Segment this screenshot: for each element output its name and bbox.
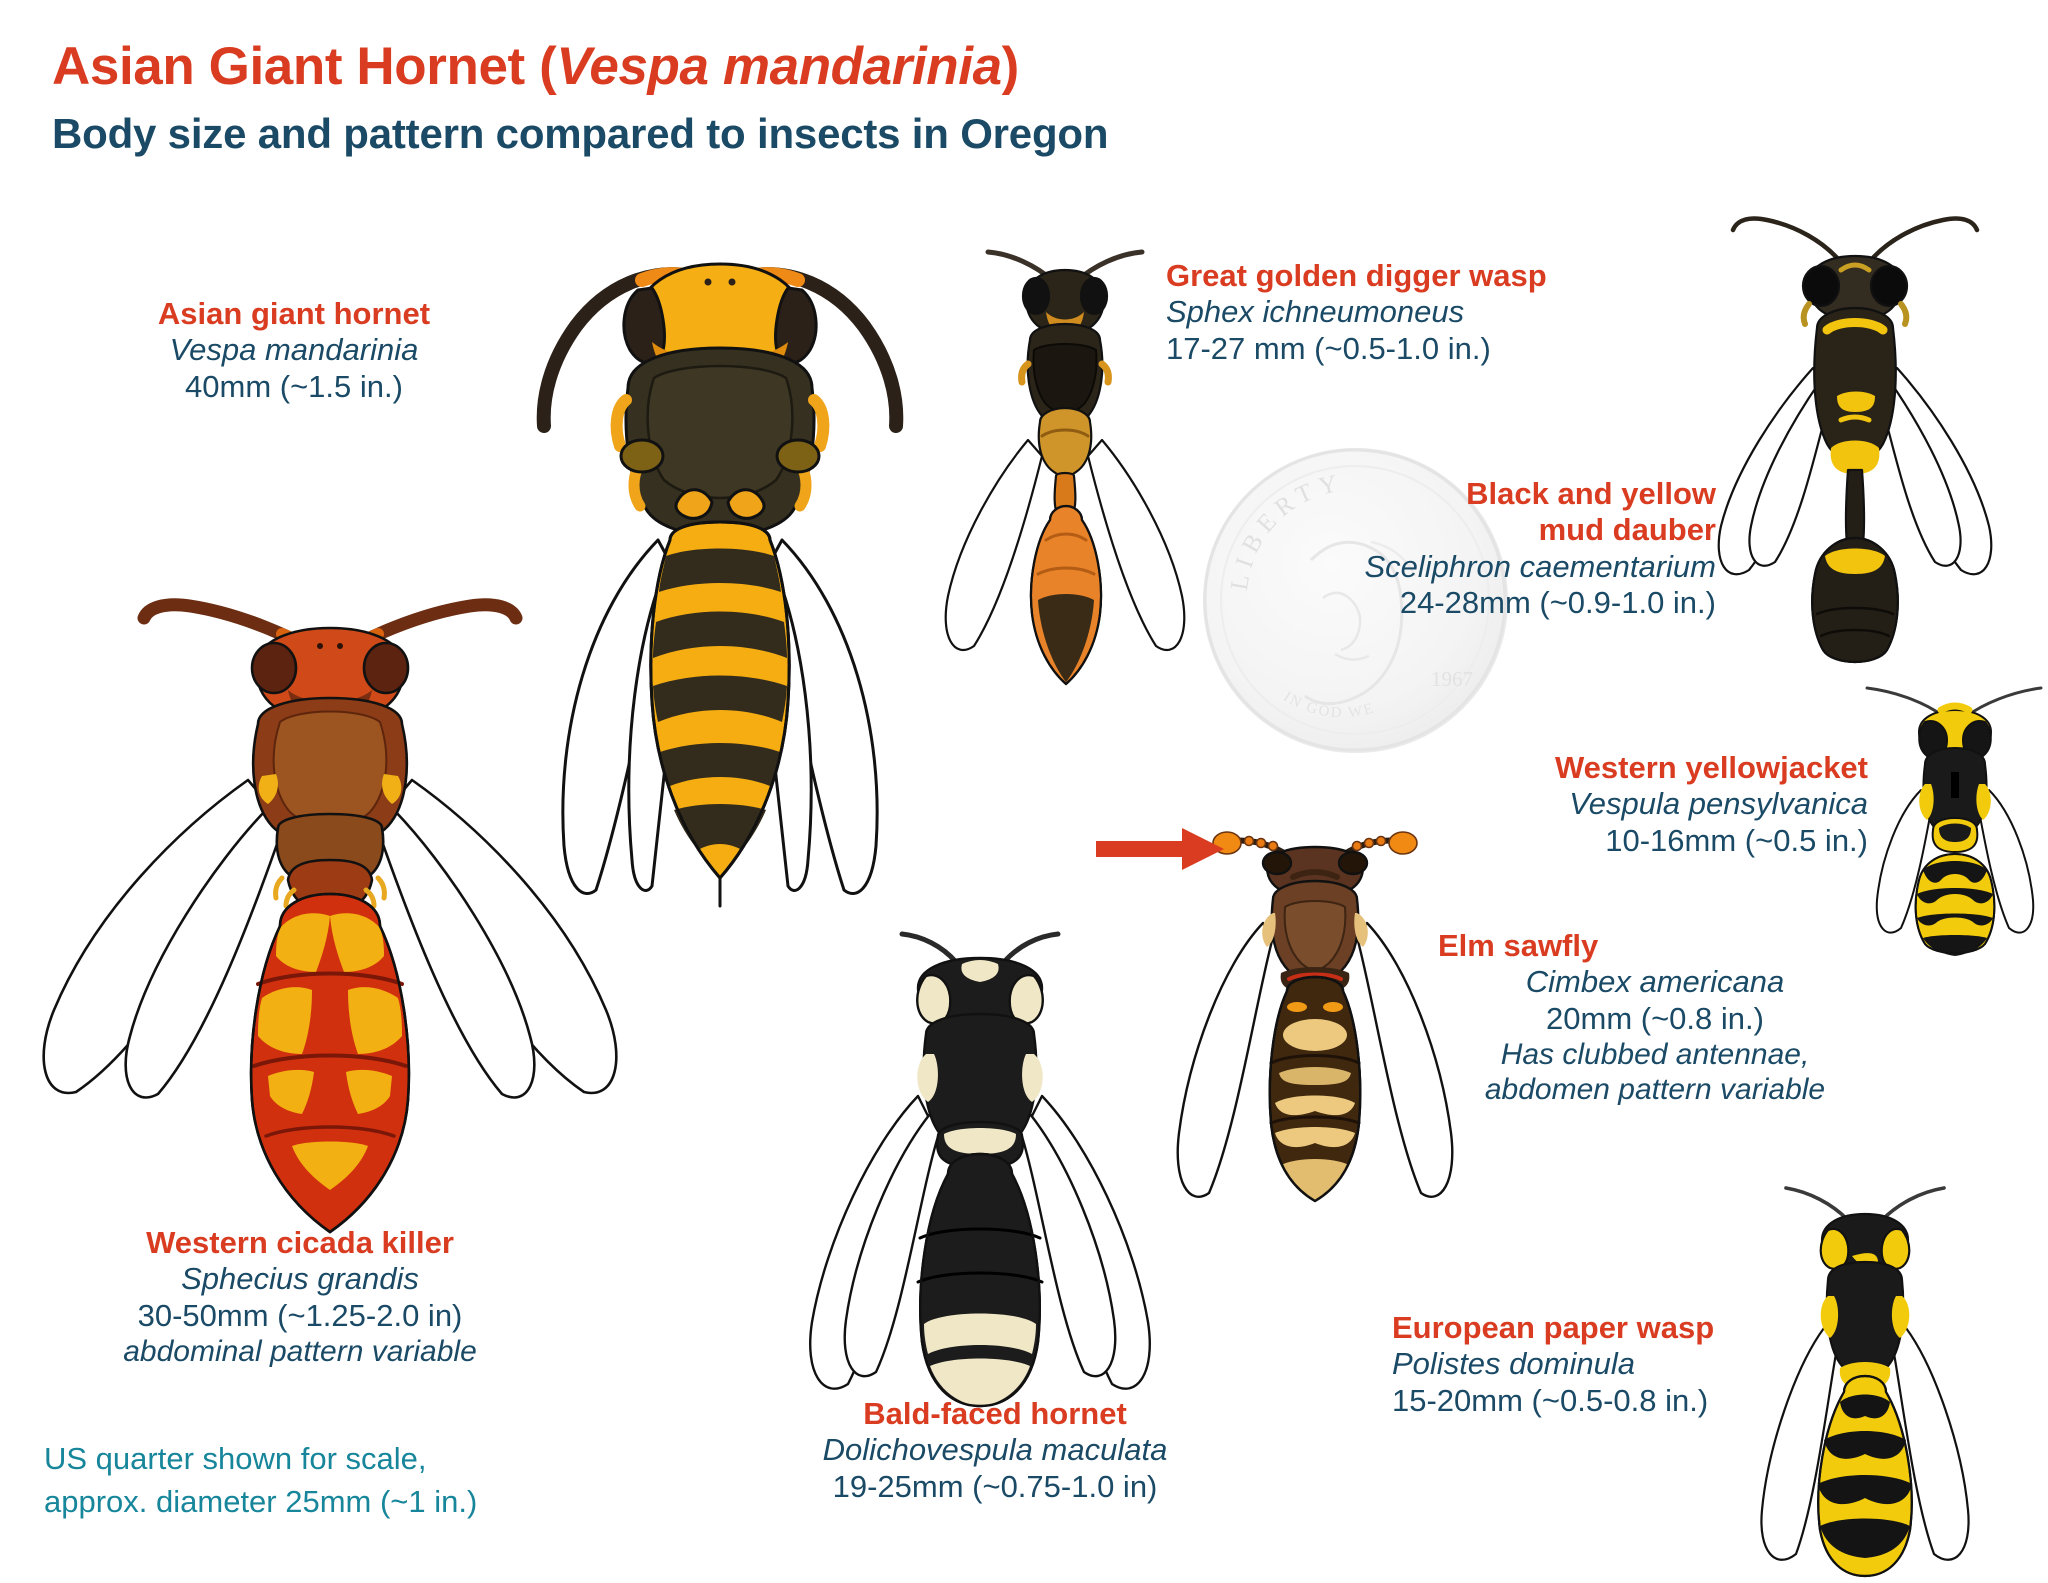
label-bald-faced-hornet: Bald-faced hornet Dolichovespula maculat… bbox=[760, 1396, 1230, 1505]
label-asian-giant-hornet: Asian giant hornet Vespa mandarinia 40mm… bbox=[110, 296, 478, 405]
illustration-great-golden-digger-wasp bbox=[930, 240, 1200, 700]
coin-year: 1967 bbox=[1431, 667, 1473, 691]
scientific-name: Dolichovespula maculata bbox=[760, 1432, 1230, 1468]
label-western-cicada-killer: Western cicada killer Sphecius grandis 3… bbox=[85, 1225, 515, 1369]
pattern-note-line1: Has clubbed antennae, bbox=[1420, 1037, 1890, 1072]
page-title-prefix: Asian Giant Hornet ( bbox=[52, 37, 556, 96]
scale-note: US quarter shown for scale, approx. diam… bbox=[44, 1438, 477, 1524]
common-name: Western cicada killer bbox=[85, 1225, 515, 1261]
page-subtitle: Body size and pattern compared to insect… bbox=[52, 110, 1108, 158]
common-name-line1: Black and yellow bbox=[1230, 476, 1716, 512]
common-name: Bald-faced hornet bbox=[760, 1396, 1230, 1432]
common-name: Western yellowjacket bbox=[1360, 750, 1868, 786]
scale-note-line1: US quarter shown for scale, bbox=[44, 1438, 477, 1481]
size-text: 20mm (~0.8 in.) bbox=[1420, 1001, 1890, 1037]
pattern-note-line2: abdomen pattern variable bbox=[1420, 1072, 1890, 1107]
size-text: 17-27 mm (~0.5-1.0 in.) bbox=[1166, 331, 1636, 367]
scientific-name: Vespa mandarinia bbox=[110, 332, 478, 368]
label-elm-sawfly: Elm sawfly Cimbex americana 20mm (~0.8 i… bbox=[1420, 928, 1890, 1107]
scientific-name: Sphecius grandis bbox=[85, 1261, 515, 1297]
size-text: 40mm (~1.5 in.) bbox=[110, 369, 478, 405]
common-name: Elm sawfly bbox=[1420, 928, 1890, 964]
size-text: 19-25mm (~0.75-1.0 in) bbox=[760, 1469, 1230, 1505]
illustration-western-yellowjacket bbox=[1855, 672, 2048, 962]
page-title-scientific: Vespa mandarinia bbox=[556, 37, 1001, 96]
annotation-arrow-icon bbox=[1096, 826, 1226, 872]
page-title: Asian Giant Hornet (Vespa mandarinia) bbox=[52, 36, 1019, 97]
scale-note-line2: approx. diameter 25mm (~1 in.) bbox=[44, 1481, 477, 1524]
common-name: Asian giant hornet bbox=[110, 296, 478, 332]
common-name-line2: mud dauber bbox=[1230, 512, 1716, 548]
scientific-name: Cimbex americana bbox=[1420, 964, 1890, 1000]
scientific-name: Polistes dominula bbox=[1392, 1346, 1852, 1382]
scientific-name: Sceliphron caementarium bbox=[1230, 549, 1716, 585]
scientific-name: Sphex ichneumoneus bbox=[1166, 294, 1636, 330]
label-great-golden-digger-wasp: Great golden digger wasp Sphex ichneumon… bbox=[1166, 258, 1636, 367]
label-black-and-yellow-mud-dauber: Black and yellow mud dauber Sceliphron c… bbox=[1230, 476, 1716, 621]
illustration-black-and-yellow-mud-dauber bbox=[1705, 208, 2005, 678]
infographic-canvas: Asian Giant Hornet (Vespa mandarinia) Bo… bbox=[0, 0, 2048, 1583]
page-title-suffix: ) bbox=[1002, 37, 1019, 96]
pattern-note: abdominal pattern variable bbox=[85, 1334, 515, 1369]
illustration-western-cicada-killer bbox=[30, 580, 630, 1240]
size-text: 24-28mm (~0.9-1.0 in.) bbox=[1230, 585, 1716, 621]
size-text: 15-20mm (~0.5-0.8 in.) bbox=[1392, 1383, 1852, 1419]
common-name: European paper wasp bbox=[1392, 1310, 1852, 1346]
illustration-bald-faced-hornet bbox=[790, 930, 1170, 1410]
size-text: 30-50mm (~1.25-2.0 in) bbox=[85, 1298, 515, 1334]
common-name: Great golden digger wasp bbox=[1166, 258, 1636, 294]
label-european-paper-wasp: European paper wasp Polistes dominula 15… bbox=[1392, 1310, 1852, 1419]
